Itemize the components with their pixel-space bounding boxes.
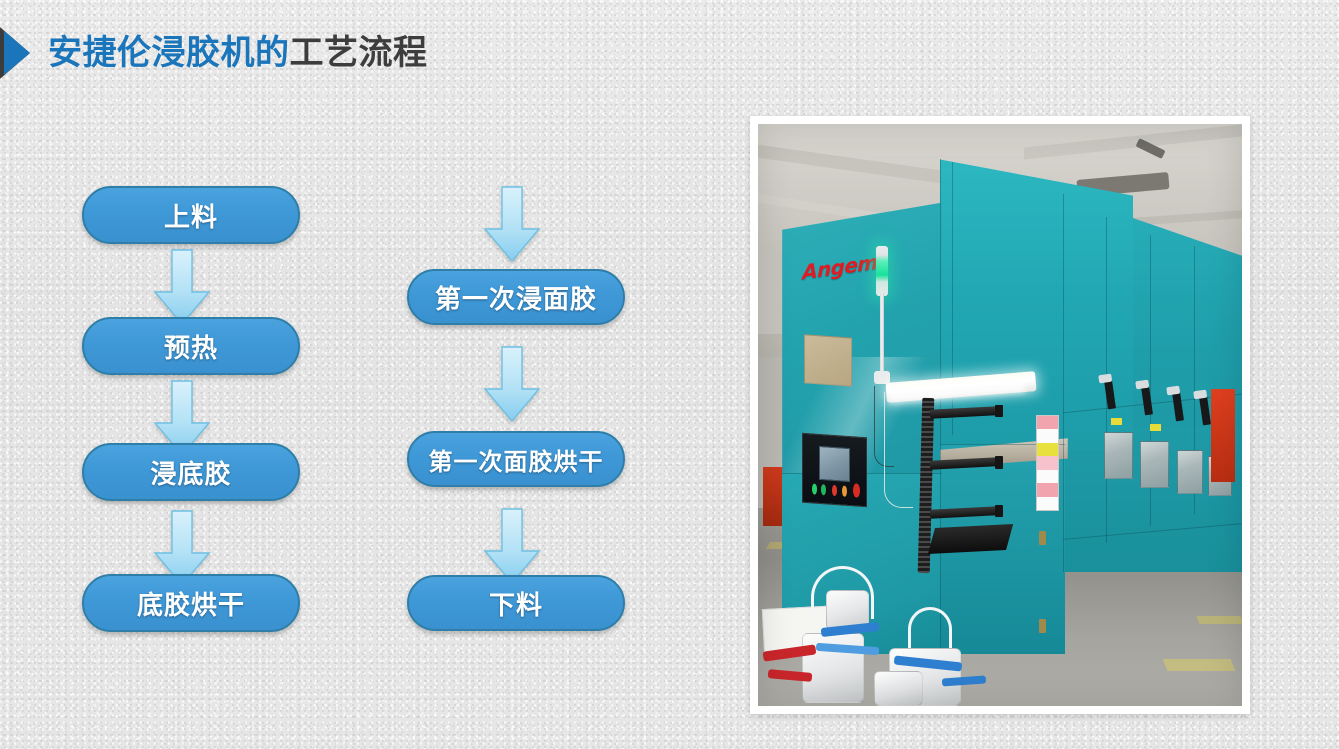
warning-row [1037,483,1057,496]
red-cabinet [1211,389,1235,482]
flow-step-shangliao[interactable]: 上料 [82,186,300,244]
cable [884,392,913,508]
control-button-green[interactable] [811,484,816,495]
door-hinge [1039,619,1047,633]
safety-warning-label [1036,415,1058,511]
status-tower-light-icon [876,246,889,295]
flow-step-diyicimianjiaohonggan[interactable]: 第一次面胶烘干 [407,431,625,487]
inspection-window [1177,450,1204,494]
emergency-stop-button[interactable] [853,484,860,498]
down-arrow-icon [483,345,541,423]
down-arrow-icon [483,507,541,585]
control-button-orange[interactable] [842,486,847,497]
warning-row [1037,470,1057,483]
status-tower-pole [880,293,884,374]
warning-row [1037,456,1057,469]
flow-step-xialiao[interactable]: 下料 [407,575,625,631]
rail-end-cap [995,456,1003,469]
flow-step-jindijiao[interactable]: 浸底胶 [82,443,300,501]
inspection-window [1104,432,1133,479]
door-hinge [1039,531,1047,545]
title-text-primary: 安捷伦浸胶机的 [48,33,290,73]
flow-step-diyicijinmianjiao[interactable]: 第一次浸面胶 [407,269,625,325]
hmi-screen[interactable] [818,446,850,482]
machine-front-upper [940,147,1134,450]
page-title: 安捷伦浸胶机的工艺流程 [0,24,428,82]
floor-marking [1197,616,1242,624]
yellow-marker [1111,418,1122,425]
nameplate [804,335,852,388]
title-text-secondary: 工艺流程 [290,33,428,73]
slide-canvas: 安捷伦浸胶机的工艺流程 上料 预热 浸底胶 [0,0,1339,749]
machine-photo: Angem [758,124,1242,706]
warning-row [1037,497,1057,510]
flow-step-dijiaohonggan[interactable]: 底胶烘干 [82,574,300,632]
control-panel[interactable] [802,433,867,507]
rail-end-cap [995,405,1003,418]
warning-row [1037,429,1057,442]
triangle-right-icon [4,31,30,75]
warning-row [1037,416,1057,429]
yellow-marker [1150,424,1161,431]
panel-seam [940,159,941,654]
warning-row [1037,443,1057,456]
tank-hoop [908,607,952,654]
panel-seam [1063,194,1064,572]
rail-end-cap [995,505,1003,518]
inspection-window [1140,441,1169,488]
title-text: 安捷伦浸胶机的工艺流程 [48,24,428,82]
valve-block [874,671,922,706]
flow-step-yure[interactable]: 预热 [82,317,300,375]
control-button-red[interactable] [832,485,837,496]
floor-marking [1162,659,1234,671]
machine-photo-frame: Angem [750,116,1250,714]
loading-tray [928,524,1014,554]
down-arrow-icon [153,248,211,326]
control-button-green[interactable] [821,484,826,495]
down-arrow-icon [483,185,541,263]
